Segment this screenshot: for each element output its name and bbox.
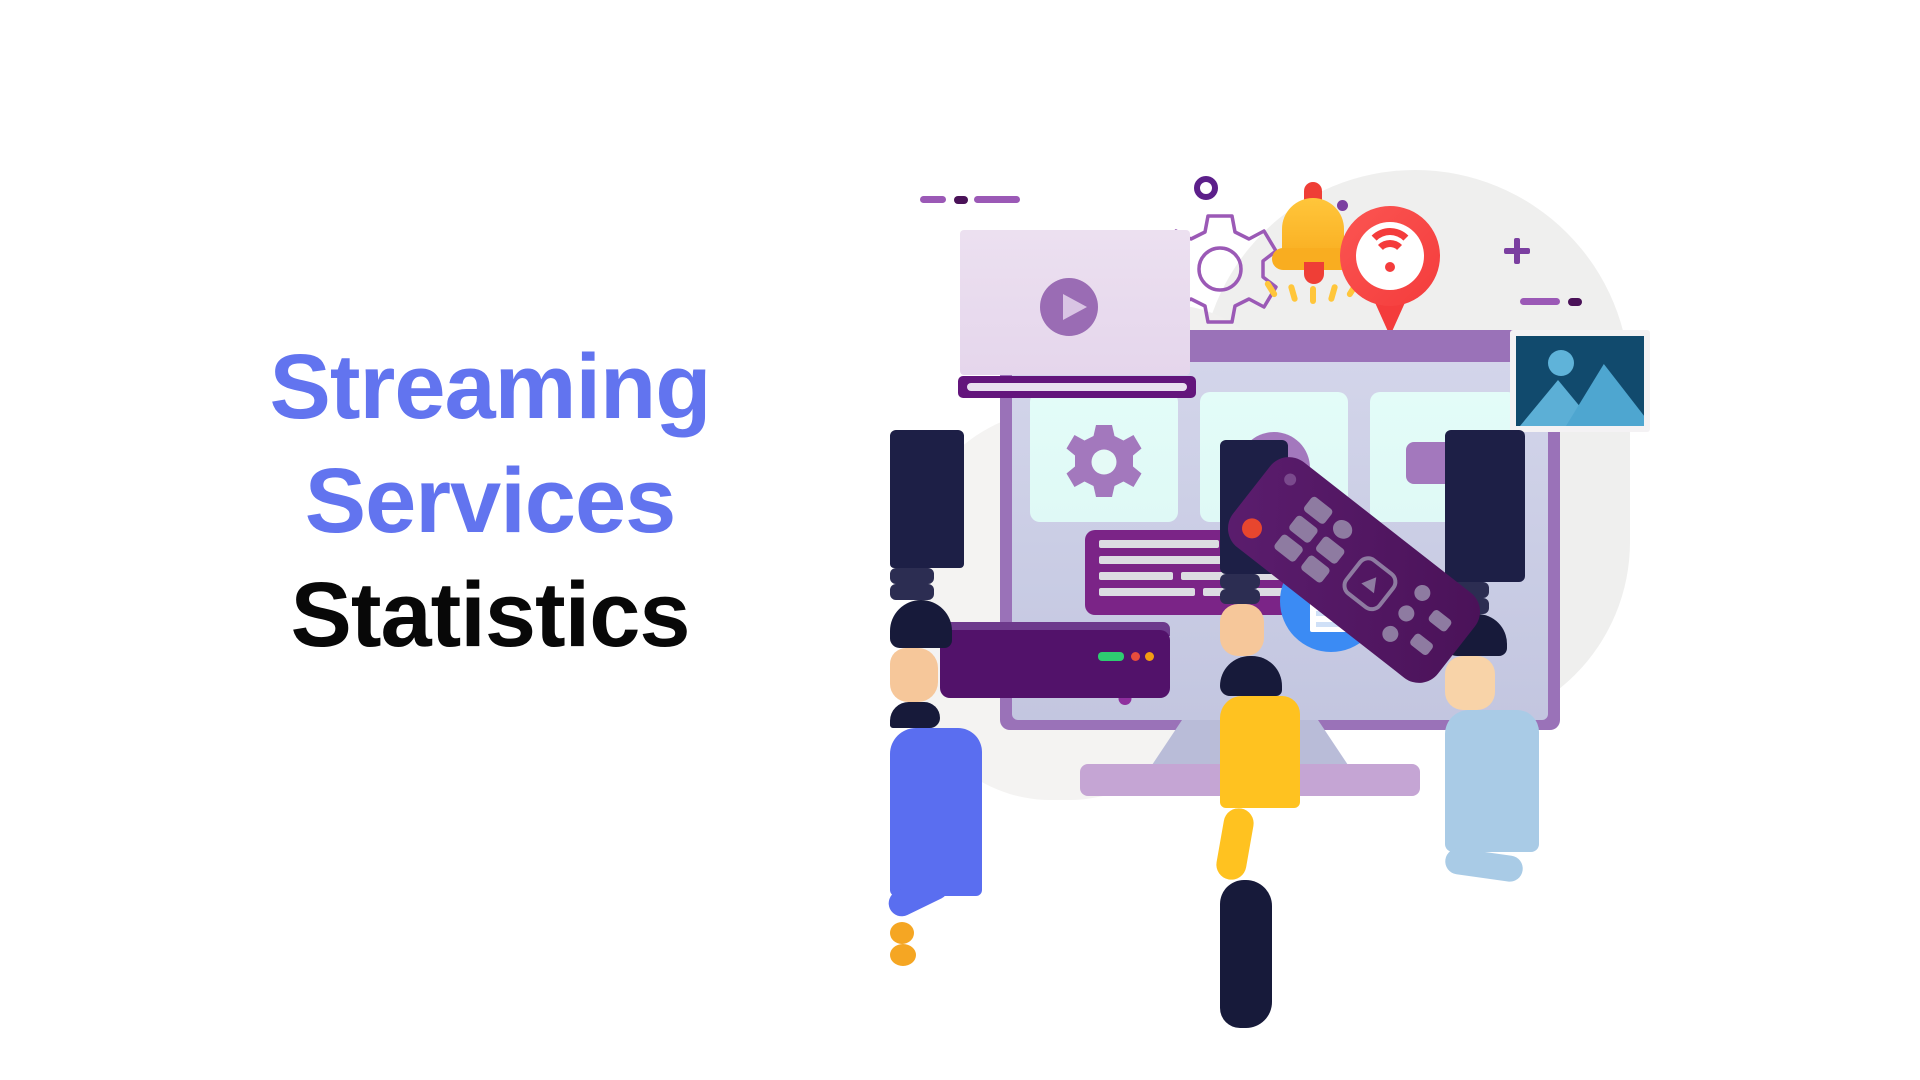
remote-button[interactable] bbox=[1329, 516, 1356, 542]
decorative-dash-2 bbox=[954, 196, 968, 204]
person-left bbox=[890, 430, 1030, 805]
decorative-plus-1 bbox=[1504, 238, 1530, 264]
person-left-legs bbox=[890, 430, 964, 568]
remote-button[interactable] bbox=[1409, 632, 1435, 657]
person-left-shoe-left bbox=[890, 568, 934, 584]
title-line-1: Streaming bbox=[180, 330, 800, 444]
person-left-body bbox=[890, 728, 982, 896]
location-pin-wifi-icon bbox=[1340, 206, 1440, 336]
decorative-dash-3 bbox=[974, 196, 1020, 203]
title-line-3: Statistics bbox=[180, 558, 800, 672]
person-left-hand bbox=[890, 922, 914, 944]
gear-icon bbox=[1062, 422, 1146, 511]
remote-ok-button[interactable] bbox=[1338, 551, 1403, 616]
image-thumbnail-inner bbox=[1516, 336, 1644, 426]
page-title: Streaming Services Statistics bbox=[180, 330, 800, 672]
person-right-body bbox=[1445, 710, 1539, 852]
remote-indicator-dot bbox=[1282, 471, 1299, 488]
person-middle-hair-top bbox=[1220, 656, 1282, 696]
person-right-legs bbox=[1445, 430, 1525, 582]
decorative-dash-4 bbox=[1520, 298, 1560, 305]
remote-button[interactable] bbox=[1427, 608, 1453, 633]
decorative-dash-1 bbox=[920, 196, 946, 203]
video-progress-bar[interactable] bbox=[958, 376, 1196, 398]
remote-button[interactable] bbox=[1395, 602, 1417, 624]
person-left-hair bbox=[890, 600, 952, 648]
decorative-ring-icon bbox=[1194, 176, 1218, 200]
streaming-services-illustration bbox=[900, 130, 1800, 870]
person-right-arm bbox=[1444, 847, 1525, 884]
status-led-red bbox=[1131, 652, 1140, 661]
person-middle-arm bbox=[1214, 806, 1256, 882]
person-left-hand-hip bbox=[890, 944, 916, 966]
person-left-shoe-right bbox=[890, 584, 934, 600]
person-right-face bbox=[1445, 656, 1495, 710]
thumbnail-sun bbox=[1548, 350, 1574, 376]
title-line-2: Services bbox=[180, 444, 800, 558]
image-thumbnail-icon bbox=[1510, 330, 1650, 432]
remote-button[interactable] bbox=[1411, 582, 1433, 604]
thumbnail-mountain-right bbox=[1566, 364, 1644, 426]
status-led-orange bbox=[1145, 652, 1154, 661]
video-preview-play-icon[interactable] bbox=[1040, 278, 1098, 336]
remote-power-button[interactable] bbox=[1238, 514, 1266, 542]
person-middle-shoe-right bbox=[1220, 589, 1260, 604]
remote-button[interactable] bbox=[1379, 623, 1401, 645]
person-middle-hair-long bbox=[1220, 880, 1272, 1028]
person-left-face bbox=[890, 648, 938, 702]
status-led-green bbox=[1098, 652, 1124, 661]
person-middle-body bbox=[1220, 696, 1300, 808]
pin-wifi-dot bbox=[1385, 262, 1395, 272]
decorative-dash-5 bbox=[1568, 298, 1582, 306]
person-left-fringe bbox=[890, 702, 940, 728]
person-middle-shoe-left bbox=[1220, 574, 1260, 589]
person-middle-face bbox=[1220, 604, 1264, 656]
page-canvas: Streaming Services Statistics bbox=[0, 0, 1920, 1080]
